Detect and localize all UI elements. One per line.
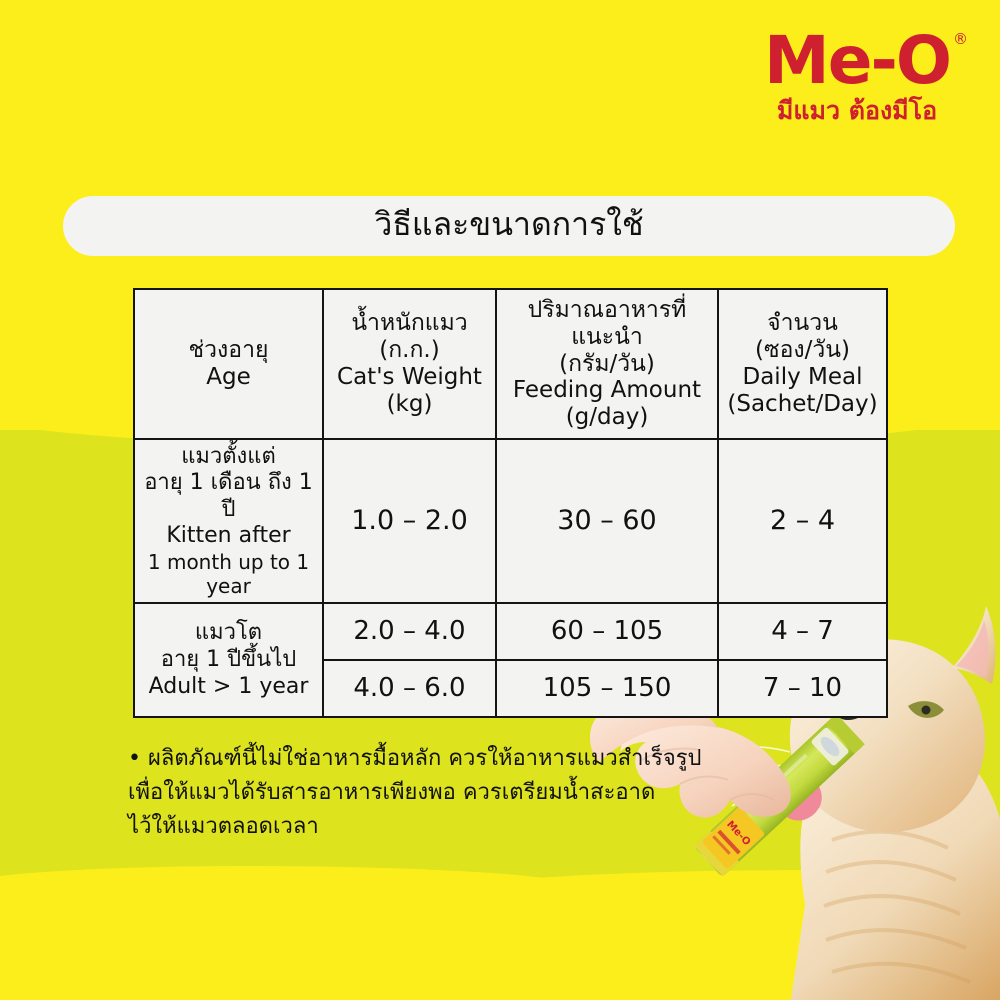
brand-logo-wordmark: Me-O ® (764, 30, 950, 93)
header-cell-amount: ปริมาณอาหารที่แนะนำ (กรัม/วัน) Feeding A… (496, 289, 718, 439)
registered-trademark-icon: ® (953, 32, 966, 46)
kitten-age-en-1: Kitten after (137, 523, 320, 549)
feeding-guide-table: ช่วงอายุ Age น้ำหนักแมว (ก.ก.) Cat's Wei… (133, 288, 888, 718)
header-weight-unit-en: (kg) (326, 391, 493, 418)
header-amount-unit-th: (กรัม/วัน) (499, 351, 715, 378)
header-amount-th: ปริมาณอาหารที่แนะนำ (499, 297, 715, 351)
adult-age-th-2: อายุ 1 ปีขึ้นไป (137, 646, 320, 673)
header-age-en: Age (137, 364, 320, 391)
kitten-age-en-2: 1 month up to 1 year (137, 550, 320, 598)
header-meals-unit-en: (Sachet/Day) (721, 391, 884, 418)
header-age-th: ช่วงอายุ (137, 337, 320, 364)
adult-age-en-1: Adult > 1 year (137, 673, 320, 700)
brand-logo-text: Me-O (764, 22, 950, 99)
feeding-note: • ผลิตภัณฑ์นี้ไม่ใช่อาหารมื้อหลัก ควรให้… (128, 742, 728, 844)
header-cell-age: ช่วงอายุ Age (134, 289, 323, 439)
kitten-age-th-2: อายุ 1 เดือน ถึง 1 ปี (137, 470, 320, 523)
adult-age-th-1: แมวโต (137, 619, 320, 646)
header-weight-unit-th: (ก.ก.) (326, 337, 493, 364)
header-cell-weight: น้ำหนักแมว (ก.ก.) Cat's Weight (kg) (323, 289, 496, 439)
cell-adult1-meals: 4 – 7 (718, 603, 887, 660)
note-line-2: เพื่อให้แมวได้รับสารอาหารเพียงพอ ควรเตรี… (128, 776, 728, 810)
note-line-3: ไว้ให้แมวตลอดเวลา (128, 810, 728, 844)
table-row-adult-1: แมวโต อายุ 1 ปีขึ้นไป Adult > 1 year 2.0… (134, 603, 887, 660)
header-weight-en: Cat's Weight (326, 364, 493, 391)
header-weight-th: น้ำหนักแมว (326, 310, 493, 337)
cell-adult2-amount: 105 – 150 (496, 660, 718, 717)
note-line-1: • ผลิตภัณฑ์นี้ไม่ใช่อาหารมื้อหลัก ควรให้… (128, 742, 728, 776)
page-title: วิธีและขนาดการใช้ (374, 208, 643, 244)
promo-page: Me-O Me-O ® มีแมว ต้องมีโอ วิธีและขนาดกา… (0, 0, 1000, 1000)
header-meals-en: Daily Meal (721, 364, 884, 391)
cell-kitten-meals: 2 – 4 (718, 439, 887, 603)
cell-adult1-weight: 2.0 – 4.0 (323, 603, 496, 660)
table-row-kitten: แมวตั้งแต่ อายุ 1 เดือน ถึง 1 ปี Kitten … (134, 439, 887, 603)
cell-kitten-weight: 1.0 – 2.0 (323, 439, 496, 603)
kitten-age-th-1: แมวตั้งแต่ (137, 444, 320, 470)
cell-adult2-weight: 4.0 – 6.0 (323, 660, 496, 717)
header-cell-meals: จำนวน (ซอง/วัน) Daily Meal (Sachet/Day) (718, 289, 887, 439)
cell-kitten-age: แมวตั้งแต่ อายุ 1 เดือน ถึง 1 ปี Kitten … (134, 439, 323, 603)
title-banner: วิธีและขนาดการใช้ (63, 196, 955, 256)
cell-kitten-amount: 30 – 60 (496, 439, 718, 603)
header-amount-en: Feeding Amount (499, 377, 715, 404)
header-meals-th: จำนวน (721, 310, 884, 337)
cell-adult2-meals: 7 – 10 (718, 660, 887, 717)
cell-adult-age: แมวโต อายุ 1 ปีขึ้นไป Adult > 1 year (134, 603, 323, 717)
cell-adult1-amount: 60 – 105 (496, 603, 718, 660)
header-meals-unit-th: (ซอง/วัน) (721, 337, 884, 364)
wave-divider-bottom (0, 882, 1000, 1000)
brand-tagline: มีแมว ต้องมีโอ (742, 97, 972, 125)
brand-logo: Me-O ® มีแมว ต้องมีโอ (742, 30, 972, 124)
table-header-row: ช่วงอายุ Age น้ำหนักแมว (ก.ก.) Cat's Wei… (134, 289, 887, 439)
header-amount-unit-en: (g/day) (499, 404, 715, 431)
